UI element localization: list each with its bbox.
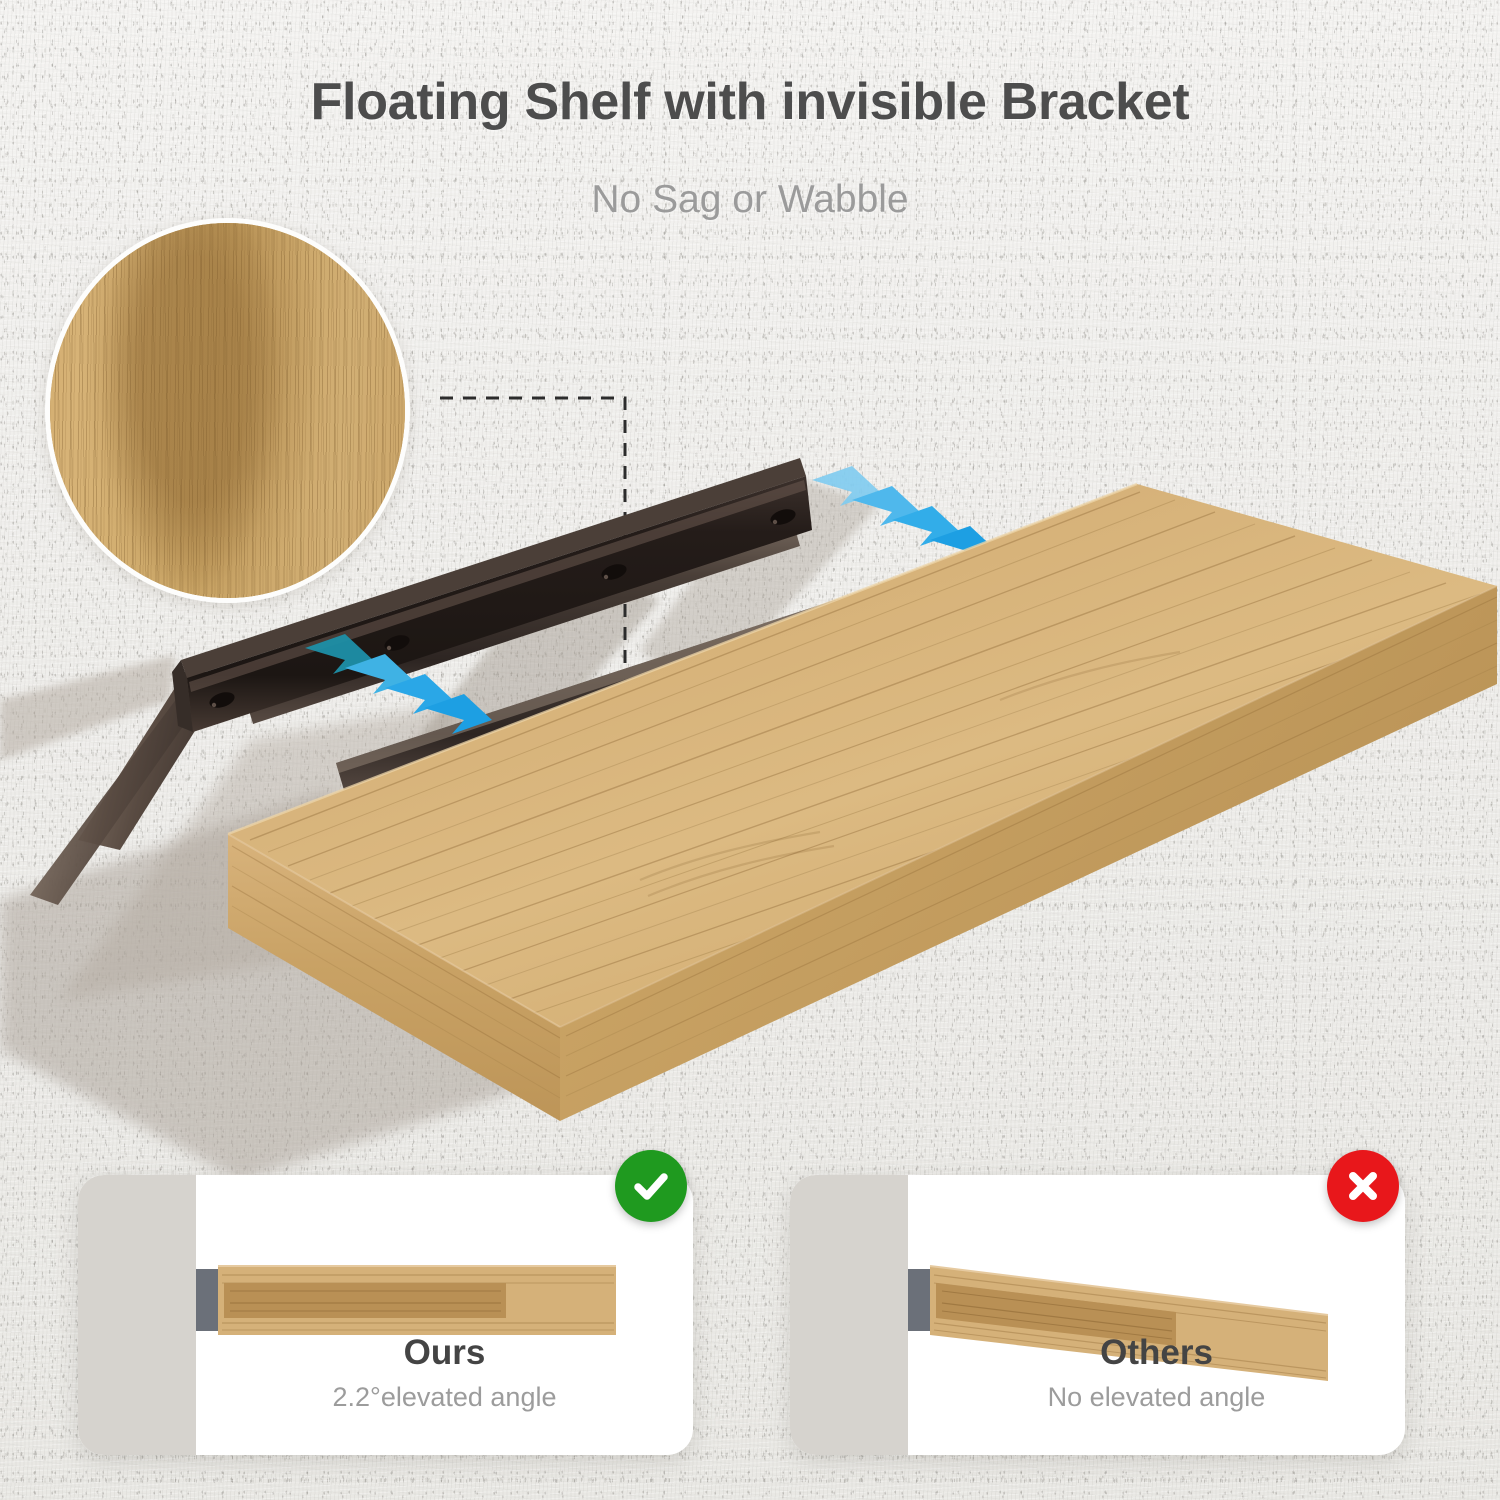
comparison-card-others: Others No elevated angle xyxy=(790,1175,1405,1455)
card-subtitle-others: No elevated angle xyxy=(908,1382,1405,1413)
card-title-others: Others xyxy=(908,1333,1405,1373)
card-title-ours: Ours xyxy=(196,1333,693,1373)
cross-icon xyxy=(1327,1150,1399,1222)
comparison-card-ours: Ours 2.2°elevated angle xyxy=(78,1175,693,1455)
card-wall-block xyxy=(790,1175,908,1455)
check-icon xyxy=(615,1150,687,1222)
shelf-board xyxy=(228,484,1497,1121)
card-subtitle-ours: 2.2°elevated angle xyxy=(196,1382,693,1413)
card-wall-block xyxy=(78,1175,196,1455)
